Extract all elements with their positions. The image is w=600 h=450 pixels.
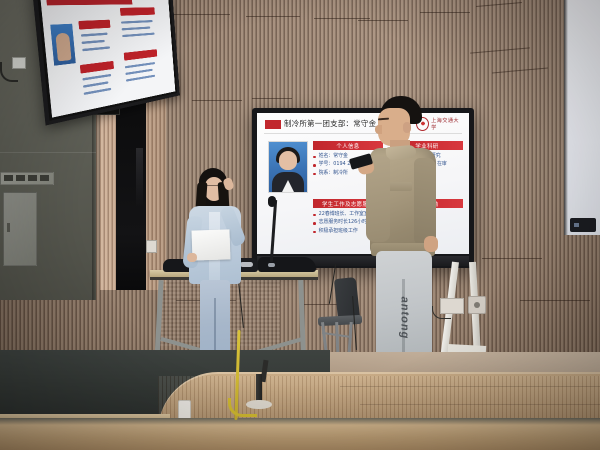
vent-slot (40, 175, 49, 181)
aux-bullet (84, 88, 112, 95)
chair-seat (318, 315, 362, 326)
aux-bullet (81, 33, 108, 37)
window-light-panel (564, 0, 600, 235)
aux-bullet (125, 62, 155, 68)
right-arm (414, 158, 436, 246)
wall-seam (314, 18, 370, 19)
wall-seam (0, 152, 96, 153)
floor-seam (340, 386, 600, 387)
aux-bullet (122, 26, 151, 30)
aux-bullet (82, 40, 105, 44)
mic-stand-pole (256, 374, 262, 402)
mic-stand-base (246, 400, 272, 409)
held-paper (191, 229, 230, 260)
wall-seam (252, 98, 292, 99)
photograph-scene: 制冷所第一团支部：常守金 上海交通大学 个人信息 姓名：常守金 学号：0194 … (0, 0, 600, 450)
aux-bullet (82, 74, 111, 81)
wall-seam (420, 12, 470, 13)
aux-bullet (83, 81, 108, 88)
light-switch[interactable] (146, 240, 157, 253)
aux-section-header (124, 49, 158, 60)
vent-slot (16, 175, 25, 181)
wall-seam (246, 16, 300, 17)
wall-seam (520, 300, 590, 301)
wall-device (570, 218, 596, 232)
aux-display-content (40, 0, 175, 118)
aux-bullet (126, 75, 155, 82)
right-hand (424, 236, 438, 252)
aux-slide-title (46, 0, 132, 5)
aux-portrait (50, 24, 76, 66)
floor-seam (360, 404, 600, 405)
equipment-bag[interactable] (258, 257, 316, 272)
slide-portrait-photo (268, 141, 308, 193)
left-hand (187, 253, 197, 262)
aux-bullet (125, 69, 152, 75)
aux-section-header (80, 61, 114, 74)
wall-control-plate[interactable] (468, 296, 486, 314)
foreground-step (0, 418, 600, 450)
aux-section-header (120, 7, 155, 16)
aux-bullet (82, 46, 110, 51)
ear (403, 122, 411, 133)
aux-section-header (78, 20, 110, 30)
aux-bullet (121, 20, 153, 24)
electrical-panel[interactable] (3, 192, 37, 266)
open-doorway[interactable] (116, 100, 146, 290)
aux-bullet (122, 33, 154, 38)
microphone-head (268, 196, 276, 207)
wall-seam (482, 258, 542, 259)
wall-seam (358, 20, 408, 21)
device-on-table[interactable] (268, 263, 275, 267)
air-vent (0, 172, 54, 185)
vent-slot (28, 175, 37, 181)
vent-slot (4, 175, 13, 181)
stage-sensor-device (178, 400, 191, 420)
wall-seam (170, 14, 230, 15)
wall-seam (192, 100, 242, 101)
slide-title-accent (265, 120, 281, 129)
